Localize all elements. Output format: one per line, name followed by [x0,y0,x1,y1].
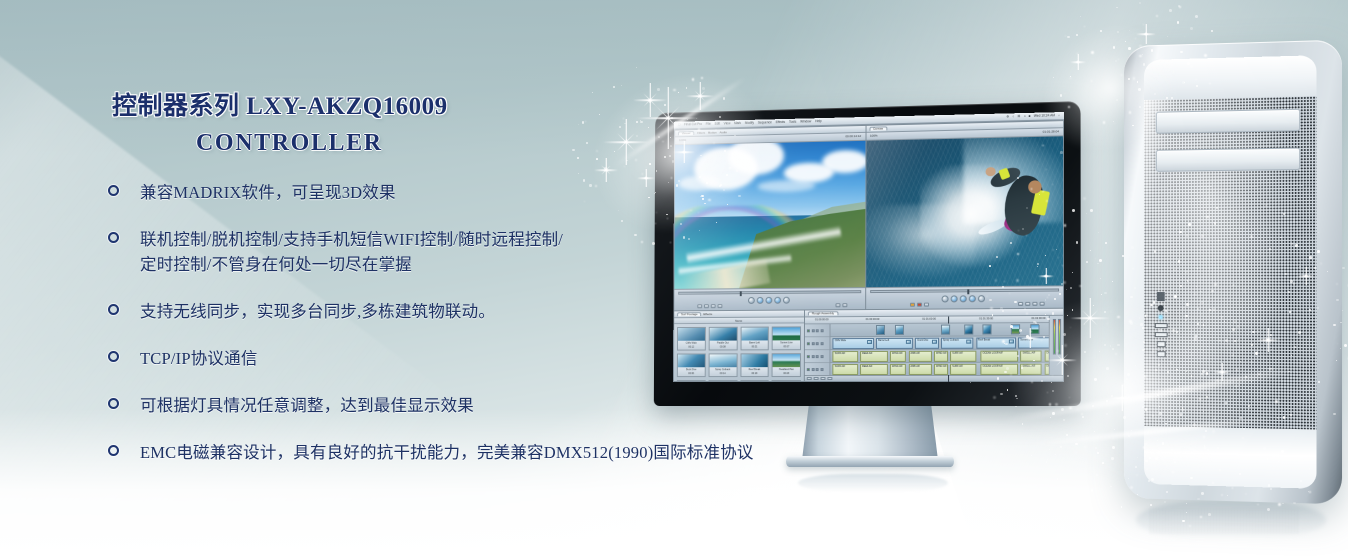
timeline-clip-label: Barrel Left [878,339,889,342]
canvas-zoom-value[interactable]: 100% [870,135,878,138]
zoom-slider-handle[interactable] [807,377,812,380]
keyframe-button[interactable] [697,304,702,308]
match-frame-button[interactable] [711,304,716,308]
tower-bottom-cap [1144,426,1317,489]
list-item[interactable]: Reef Break00:19 [740,353,769,377]
audio-meters [1049,316,1063,375]
clip-name: Cliffs Wide [686,342,697,345]
clip-duration: 00:19 [751,372,757,375]
title-safe-button[interactable] [1040,302,1045,306]
bluetooth-status-icon[interactable]: ⚙ [1006,115,1009,118]
tab-canvas[interactable]: Canvas [869,126,887,130]
feature-text: 支持无线同步，实现多台同步,多栋建筑物联动。 [140,302,495,321]
surfer-wave-frame [866,136,1063,287]
viewer-timecode[interactable]: 00:00:14:12 [845,135,861,138]
insert-edit-button[interactable] [909,303,914,307]
feature-text: 兼容MADRIX软件，可呈现3D效果 [140,183,396,202]
clip-duration: 00:23 [783,372,789,375]
snapping-toggle[interactable] [821,377,826,380]
viewer-tool-buttons[interactable] [697,304,722,308]
marker-button[interactable] [704,304,709,308]
play-reverse-button[interactable] [756,297,763,304]
computer-tower: ✱ [1124,46,1340,498]
clip-name: Headland Pan [779,368,794,371]
timeline-clip-label: SURF.AIF [952,352,963,355]
firewire-port-icon[interactable] [1156,351,1165,357]
ruler-tick: 01:01:00:00 [922,318,936,321]
ruler-tick: 01:00:30:00 [866,318,880,321]
browser-thumbnail-grid[interactable]: Cliffs Wide00:12 Paddle Out00:08 Barrel … [674,323,804,381]
canvas-transport-buttons[interactable] [942,295,985,302]
video-editor-app:  Final Cut Pro File Edit View Mark Modi… [673,112,1064,382]
browser-panel: Surf Footage Effects Name Cliffs Wide00:… [673,310,805,382]
feature-text: EMC电磁兼容设计，具有良好的抗干扰能力，完美兼容DMX512(1990)国际标… [140,443,754,462]
track-header-a1[interactable] [805,350,830,363]
surfer-hand [985,167,995,176]
optical-drive-bay-1[interactable] [1156,109,1300,134]
viewer-panel: Viewer Filters Motion Audio 100% 00:00:1… [673,125,866,311]
monitor-screen:  Final Cut Pro File Edit View Mark Modi… [673,112,1064,382]
list-item[interactable]: Spray Cutback00:14 [708,353,737,377]
bullet-circle-icon [108,304,119,315]
usb-port-icon[interactable] [1154,332,1167,337]
clip-name: Spray Cutback [715,368,730,371]
list-item[interactable] [740,380,769,381]
bullet-circle-icon [108,232,119,243]
clip-duration: 00:17 [783,345,789,348]
timeline-canvas[interactable]: Cliffs Wide Barrel Left Duck Dive Spray … [830,323,1063,375]
timeline-clip-label: OCEAN LOOP.AIF [983,365,1003,368]
timeline-clip-label: Reef Break [978,339,990,342]
viewer-zoom-buttons[interactable] [835,303,847,307]
timeline-clip-label: SURF.AIF [835,365,846,368]
ruler-tick: 01:02:00:00 [1031,317,1045,320]
menu-mark[interactable]: Mark [734,122,741,125]
tab-surf-footage[interactable]: Surf Footage [677,312,701,316]
timeline-clip-label: WIND.AIF [936,365,947,368]
canvas-scrubber[interactable] [870,288,1059,293]
list-item[interactable]: Cliffs Wide00:12 [677,327,706,351]
menubar-clock[interactable]: Wed 10:24 AM [1034,114,1055,118]
battery-status-icon[interactable]: ■ [1029,115,1031,118]
banner-stage: 控制器系列 LXY-AKZQ16009 CONTROLLER 兼容MADRIX软… [0,0,1348,559]
viewer-row: Viewer Filters Motion Audio 100% 00:00:1… [673,120,1064,311]
stand-reflection [798,474,948,492]
clip-name: Barrel Left [749,341,760,344]
input-status-icon[interactable]: ⌘ [1017,115,1020,118]
play-reverse-button[interactable] [951,295,958,302]
timeline-clip-label: WIND.AIF [892,365,903,368]
track-height-button[interactable] [814,377,819,380]
clip-name: Sunset Line [780,341,792,344]
timeline-clip-label: REEF.AIF [862,352,872,355]
overlay-button[interactable] [1032,302,1037,306]
browser-column-name: Name [735,318,742,322]
list-item[interactable] [772,380,801,381]
timeline-clip-label: SWELL.AIF [1023,352,1036,355]
mark-in-button[interactable] [942,295,949,302]
play-button[interactable] [765,297,772,304]
volume-status-icon[interactable]: ○ [1012,115,1014,118]
viewer-zoom-value[interactable]: 100% [679,139,686,142]
app-body: Viewer Filters Motion Audio 100% 00:00:1… [673,120,1064,382]
audio-meter-right [1057,319,1060,355]
canvas-panel: Canvas 100% 01:01:28:04 [866,120,1065,310]
view-mode-button[interactable] [1025,302,1030,306]
clip-name: Duck Dive [686,368,696,371]
clip-duration: 00:14 [720,372,726,375]
play-forward-button[interactable] [774,297,781,304]
ruler-tick: 01:01:30:00 [979,317,993,320]
spotlight-icon[interactable]: ⌕ [1058,114,1060,117]
overwrite-edit-button[interactable] [916,303,921,307]
timeline-clip-label: Spray Cutback [943,339,959,342]
mark-out-button[interactable] [783,297,790,304]
play-forward-button[interactable] [969,295,976,302]
feature-text: TCP/IP协议通信 [140,349,258,368]
feature-text: 可根据灯具情况任意调整，达到最佳显示效果 [140,396,474,415]
canvas-edit-buttons[interactable] [909,303,928,307]
apple-menu-icon[interactable]:  [678,123,680,126]
clip-name: Reef Break [749,368,761,371]
monitor-stand-base [786,456,954,467]
menu-tools[interactable]: Tools [789,121,796,124]
canvas-image-surfer[interactable] [866,136,1063,287]
timeline-scrollbar[interactable] [805,375,1063,381]
timeline-clip-label: SURF.AIF [952,365,963,368]
tab-viewer[interactable]: Viewer [678,131,694,135]
canvas-transport[interactable] [866,285,1063,309]
linked-selection-toggle[interactable] [827,377,832,380]
page-title-cn: 控制器系列 LXY-AKZQ16009 [112,86,448,122]
clip-duration: 00:21 [752,346,758,349]
timeline-clip-label: REEF.AIF [862,365,872,368]
replace-edit-button[interactable] [923,303,928,307]
bullet-circle-icon [108,445,119,456]
list-item[interactable]: Barrel Left00:21 [740,327,769,351]
menu-modify[interactable]: Modify [745,122,754,125]
canvas-view-buttons[interactable] [1018,302,1045,306]
firewire-port-icon[interactable]: ✱ [1157,292,1164,301]
page-title-en: CONTROLLER [196,130,383,157]
menu-final-cut-pro[interactable]: Final Cut Pro [684,123,702,127]
timeline-clip-label: AMB.AIF [910,352,920,355]
list-item[interactable]: Duck Dive00:06 [677,353,706,377]
menu-window[interactable]: Window [800,120,811,123]
timeline-clip-label: SURF.AIF [835,352,845,355]
timeline-clip-label: Duck Dive [917,339,928,342]
timeline-panel: Rough Assembly 01:00:00:00 01:00:30:00 0… [805,309,1064,382]
menu-view[interactable]: View [724,122,731,125]
list-item[interactable] [708,380,737,381]
optical-drive-bay-2[interactable] [1156,148,1300,172]
list-item[interactable]: Paddle Out00:08 [708,327,737,351]
clip-duration: 00:06 [688,372,694,375]
tab-effects[interactable]: Effects [703,313,712,316]
bullet-circle-icon [108,185,119,196]
add-edit-button[interactable] [718,304,723,308]
tower-perforated-mesh [1144,96,1317,429]
tower-front-panel: ✱ [1144,55,1317,488]
tower-top-cap [1144,55,1317,100]
list-item[interactable]: Headland Pan00:23 [772,353,801,377]
zoom-fit-button[interactable] [1018,302,1023,306]
viewer-transport-buttons[interactable] [748,297,790,304]
usb-port-icon[interactable] [1154,323,1167,328]
track-header-v2[interactable] [805,324,830,337]
tab-filters[interactable]: Filters [697,131,705,134]
generator-button[interactable] [842,303,847,307]
firewire-port-icon[interactable] [1156,341,1165,347]
coastline-rainbow-frame [674,141,865,289]
audio-jack-icon[interactable] [1158,305,1164,311]
clip-duration: 00:12 [688,346,694,349]
timeline-clip-label: OCEAN LOOP.AIF [983,352,1003,355]
play-button[interactable] [960,295,967,302]
tab-audio[interactable]: Audio [719,131,726,134]
mark-out-button[interactable] [978,295,985,302]
audio-meter-left [1053,319,1056,355]
ruler-tick: 01:00:00:00 [815,318,828,321]
tower-mesh-reflection [1150,508,1300,534]
timeline-clip-label: WIND.AIF [892,352,903,355]
tab-motion[interactable]: Motion [708,131,717,134]
tab-sequence[interactable]: Rough Assembly [808,311,838,315]
menu-help[interactable]: Help [815,120,821,123]
menu-file[interactable]: File [706,123,711,126]
list-item[interactable] [677,380,706,381]
timeline-clip-label: AMB.AIF [910,365,920,368]
mark-in-button[interactable] [748,297,755,304]
viewer-scrubber[interactable] [678,290,861,295]
timeline-clip-label: WIND.AIF [936,352,947,355]
timeline-clip-label: Sunset Line [1020,338,1033,341]
list-item[interactable]: Sunset Line00:17 [772,326,801,350]
menu-edit[interactable]: Edit [715,122,720,125]
clip-name: Paddle Out [717,342,729,345]
bullet-circle-icon [108,398,119,409]
recent-clips-button[interactable] [835,303,840,307]
clip-duration: 00:08 [720,346,726,349]
canvas-timecode[interactable]: 01:01:28:04 [1043,130,1059,133]
bullet-circle-icon [108,351,119,362]
feature-text: 联机控制/脱机控制/支持手机短信WIFI控制/随时远程控制/ [140,230,563,249]
timeline-tracks: Cliffs Wide Barrel Left Duck Dive Spray … [805,323,1063,375]
lower-row: Surf Footage Effects Name Cliffs Wide00:… [673,309,1064,382]
track-header-v1[interactable] [805,337,830,350]
timeline-clip-label: Cliffs Wide [835,339,846,342]
power-led-icon [1159,315,1163,319]
track-header-gutter[interactable] [805,324,831,375]
wifi-status-icon[interactable]: ◑ [1024,115,1026,118]
list-item: EMC电磁兼容设计，具有良好的抗干扰能力，完美兼容DMX512(1990)国际标… [108,440,868,465]
menu-effects[interactable]: Effects [776,121,785,124]
display-monitor:  Final Cut Pro File Edit View Mark Modi… [648,106,1078,406]
timeline-clip-label: SWELL.AIF [1023,365,1036,368]
viewer-transport[interactable] [674,287,864,310]
viewer-image-coastline[interactable] [674,141,865,289]
tower-port-cluster[interactable]: ✱ [1150,292,1172,357]
menu-sequence[interactable]: Sequence [758,121,772,124]
